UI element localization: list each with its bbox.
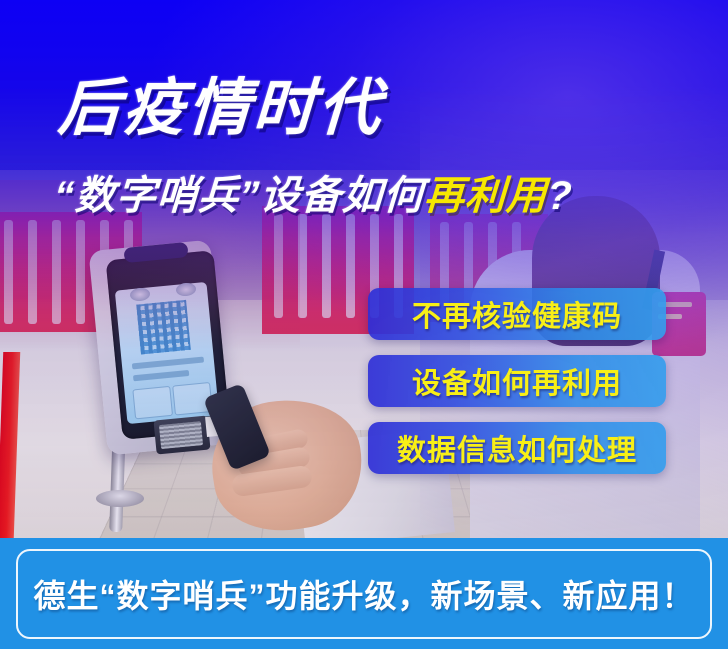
kiosk-screen-ui <box>115 282 219 424</box>
topic-pill-label-1: 设备如何再利用 <box>412 360 622 402</box>
topic-pill-2[interactable]: 数据信息如何处理 <box>368 422 666 474</box>
headline-sub-highlight: 再利用 <box>423 174 548 218</box>
bottom-banner: 德生“数字哨兵”功能升级，新场景、新应用！ <box>0 538 728 649</box>
topic-pill-1[interactable]: 设备如何再利用 <box>368 355 666 407</box>
headline-main: 后疫情时代 <box>56 78 384 140</box>
headline-sub-prefix: “数字哨兵”设备如何 <box>53 174 425 218</box>
bottom-banner-box: 德生“数字哨兵”功能升级，新场景、新应用！ <box>16 549 712 639</box>
topic-pill-label-2: 数据信息如何处理 <box>397 427 637 469</box>
kiosk-card-reader <box>153 415 210 454</box>
kiosk-base <box>96 490 144 507</box>
bottom-banner-text: 德生“数字哨兵”功能升级，新场景、新应用！ <box>33 571 694 617</box>
qr-code-icon <box>136 300 191 355</box>
headline-sub: “数字哨兵”设备如何再利用? <box>53 176 574 216</box>
poster-root: 后疫情时代 “数字哨兵”设备如何再利用? 不再核验健康码 设备如何再利用 数据信… <box>0 0 728 649</box>
headline-sub-suffix: ? <box>546 174 574 218</box>
topic-pill-0[interactable]: 不再核验健康码 <box>368 288 666 340</box>
topic-pill-list: 不再核验健康码 设备如何再利用 数据信息如何处理 <box>368 288 668 489</box>
topic-pill-label-0: 不再核验健康码 <box>412 293 622 335</box>
